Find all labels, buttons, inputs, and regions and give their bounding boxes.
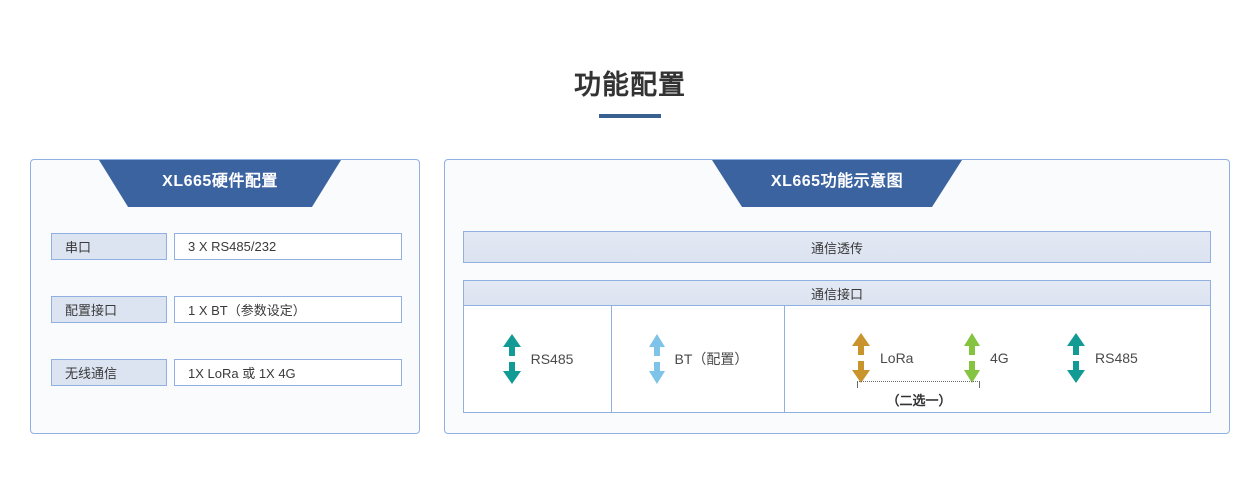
choose-one-label: （二选一） xyxy=(833,390,1005,409)
port-label: RS485 xyxy=(1095,350,1138,366)
spec-value-config-interface: 1 X BT（参数设定） xyxy=(174,296,402,323)
spec-label-wireless: 无线通信 xyxy=(51,359,167,386)
double-arrow-icon xyxy=(851,333,871,383)
function-diagram-panel: XL665功能示意图 通信透传 通信接口 RS485 xyxy=(444,159,1230,434)
choose-one-bracket xyxy=(857,381,980,388)
port-label: 4G xyxy=(990,350,1009,366)
port-4g: 4G xyxy=(963,333,1009,383)
interface-columns: RS485 BT（配置） xyxy=(463,306,1211,413)
double-arrow-icon xyxy=(648,334,666,384)
port-bt: BT（配置） xyxy=(648,334,749,384)
bar-communication-interface: 通信接口 xyxy=(463,280,1211,306)
spec-row: 串口 3 X RS485/232 xyxy=(51,233,402,260)
spec-row: 无线通信 1X LoRa 或 1X 4G xyxy=(51,359,402,386)
hardware-config-panel: XL665硬件配置 串口 3 X RS485/232 配置接口 1 X BT（参… xyxy=(30,159,420,434)
port-lora: LoRa xyxy=(851,333,913,383)
port-rs485: RS485 xyxy=(502,334,574,384)
hardware-config-banner: XL665硬件配置 xyxy=(99,160,341,207)
function-diagram-banner: XL665功能示意图 xyxy=(712,160,962,207)
port-label: RS485 xyxy=(531,351,574,367)
spec-label-serial: 串口 xyxy=(51,233,167,260)
interface-column-bt: BT（配置） xyxy=(612,306,785,412)
double-arrow-icon xyxy=(963,333,981,383)
bar-transparent-transmission: 通信透传 xyxy=(463,231,1211,263)
port-rs485-secondary: RS485 xyxy=(1066,333,1138,383)
title-underline xyxy=(599,114,661,118)
port-label: BT（配置） xyxy=(675,349,749,369)
page-title: 功能配置 xyxy=(0,68,1260,102)
spec-row: 配置接口 1 X BT（参数设定） xyxy=(51,296,402,323)
double-arrow-icon xyxy=(1066,333,1086,383)
interface-column-wireless: LoRa 4G xyxy=(785,306,1210,412)
page-header: 功能配置 xyxy=(0,68,1260,118)
double-arrow-icon xyxy=(502,334,522,384)
spec-label-config-interface: 配置接口 xyxy=(51,296,167,323)
spec-value-wireless: 1X LoRa 或 1X 4G xyxy=(174,359,402,386)
port-label: LoRa xyxy=(880,350,913,366)
interface-column-rs485: RS485 xyxy=(464,306,612,412)
spec-value-serial: 3 X RS485/232 xyxy=(174,233,402,260)
